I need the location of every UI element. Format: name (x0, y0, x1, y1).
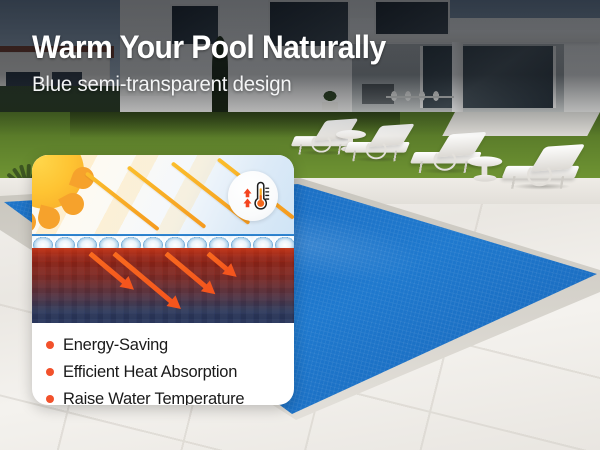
rising-temperature-badge (228, 171, 278, 221)
header-text-block: Warm Your Pool Naturally Blue semi-trans… (32, 28, 572, 98)
product-banner: Warm Your Pool Naturally Blue semi-trans… (0, 0, 600, 450)
bullet-dot-icon (46, 395, 54, 403)
pool-water-cross-section (32, 248, 294, 323)
bullet-dot-icon (46, 341, 54, 349)
water-heat-glow (32, 248, 294, 258)
list-item: Raise Water Temperature (46, 389, 294, 405)
heat-absorption-diagram (32, 155, 294, 323)
thermometer-icon (236, 179, 270, 213)
page-title: Warm Your Pool Naturally (32, 28, 540, 66)
list-item: Efficient Heat Absorption (46, 362, 294, 382)
bullet-dot-icon (46, 368, 54, 376)
bullet-label: Efficient Heat Absorption (63, 362, 237, 382)
list-item: Energy-Saving (46, 335, 294, 355)
bullet-label: Energy-Saving (63, 335, 168, 355)
feature-info-card: Energy-Saving Efficient Heat Absorption … (32, 155, 294, 405)
bullet-label: Raise Water Temperature (63, 389, 244, 405)
page-subtitle: Blue semi-transparent design (32, 72, 556, 98)
feature-bullet-list: Energy-Saving Efficient Heat Absorption … (32, 323, 294, 405)
